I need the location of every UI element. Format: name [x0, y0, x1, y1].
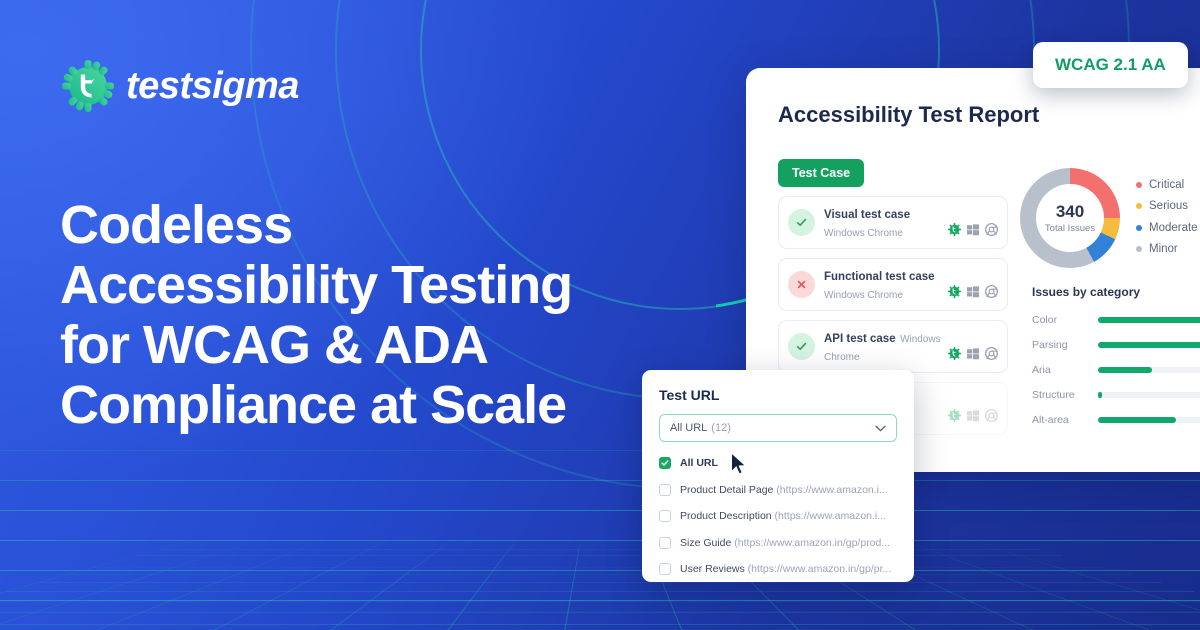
legend-item-minor: Minor — [1136, 239, 1198, 261]
checkbox-checked-icon[interactable] — [659, 457, 671, 469]
legend-dot-moderate — [1136, 225, 1142, 231]
status-pass-icon — [788, 333, 815, 360]
legend-dot-minor — [1136, 246, 1142, 252]
donut-center: 340 Total Issues — [1036, 184, 1104, 252]
list-item-label: User Reviews (https://www.amazon.in/gp/p… — [680, 563, 891, 575]
checkbox-icon[interactable] — [659, 537, 671, 549]
category-label: Color — [1032, 314, 1098, 326]
headline-line-4: Compliance at Scale — [60, 376, 700, 436]
legend-dot-critical — [1136, 182, 1142, 188]
list-item[interactable]: Product Detail Page (https://www.amazon.… — [659, 477, 897, 504]
status-fail-icon — [788, 271, 815, 298]
windows-icon — [967, 409, 979, 427]
list-item-url: (https://www.amazon.in/gp/prod... — [731, 537, 890, 549]
chevron-down-icon[interactable] — [875, 419, 886, 437]
mouse-cursor-icon — [730, 452, 749, 481]
list-item-label: Product Description (https://www.amazon.… — [680, 510, 886, 522]
testsigma-icon — [948, 409, 961, 427]
list-item[interactable]: All URL — [659, 450, 897, 477]
list-item-url: (https://www.amazon.i... — [772, 510, 886, 522]
table-row[interactable]: Visual test case Windows Chrome — [778, 196, 1008, 249]
donut-legend: Critical Serious Moderate Minor — [1136, 174, 1198, 260]
test-case-text: Visual test case Windows Chrome — [824, 205, 948, 241]
category-bar-fill — [1098, 392, 1102, 398]
category-bar-track — [1098, 417, 1200, 423]
legend-item-serious: Serious — [1136, 196, 1198, 218]
dropdown-selected-count: (12) — [711, 422, 731, 434]
chrome-icon — [985, 223, 998, 241]
platform-icons — [948, 285, 998, 303]
legend-label-minor: Minor — [1149, 243, 1178, 255]
table-row[interactable]: Functional test case Windows Chrome — [778, 258, 1008, 311]
legend-dot-serious — [1136, 203, 1142, 209]
category-row: Parsing — [1032, 333, 1200, 358]
category-bar-track — [1098, 317, 1200, 323]
category-label: Alt-area — [1032, 414, 1098, 426]
list-item[interactable]: Size Guide (https://www.amazon.in/gp/pro… — [659, 530, 897, 557]
test-case-tab[interactable]: Test Case — [778, 159, 864, 187]
list-item[interactable]: Product Description (https://www.amazon.… — [659, 503, 897, 530]
list-item-label: Size Guide (https://www.amazon.in/gp/pro… — [680, 537, 890, 549]
list-item[interactable]: User Reviews (https://www.amazon.in/gp/p… — [659, 556, 897, 583]
checkbox-icon[interactable] — [659, 484, 671, 496]
dropdown-selected-value: All URL — [670, 422, 707, 434]
platform-icons — [948, 409, 998, 427]
brand-logo[interactable]: testsigma — [62, 60, 299, 112]
total-issues-label: Total Issues — [1045, 223, 1095, 234]
test-url-options-list: All URLProduct Detail Page (https://www.… — [659, 450, 897, 583]
test-case-name: Visual test case — [824, 209, 910, 221]
category-bar-fill — [1098, 342, 1200, 348]
test-case-name: API test case — [824, 333, 896, 345]
category-row: Alt-area — [1032, 407, 1200, 432]
category-bar-fill — [1098, 317, 1200, 323]
status-pass-icon — [788, 209, 815, 236]
platform-icons — [948, 347, 998, 365]
category-bar-track — [1098, 342, 1200, 348]
headline-line-2: Accessibility Testing — [60, 256, 700, 316]
issues-donut-chart: 340 Total Issues — [1020, 168, 1120, 268]
page-title: Codeless Accessibility Testing for WCAG … — [60, 196, 700, 436]
list-item-label: All URL — [680, 457, 718, 469]
issues-by-category-title: Issues by category — [1032, 285, 1140, 299]
checkbox-icon[interactable] — [659, 510, 671, 522]
testsigma-gear-logo-icon — [62, 60, 114, 112]
category-label: Parsing — [1032, 339, 1098, 351]
headline-line-1: Codeless — [60, 196, 700, 256]
category-label: Aria — [1032, 364, 1098, 376]
checkbox-icon[interactable] — [659, 563, 671, 575]
chrome-icon — [985, 347, 998, 365]
chrome-icon — [985, 285, 998, 303]
list-item-url: (https://www.amazon.i... — [773, 484, 887, 496]
list-item-label: Product Detail Page (https://www.amazon.… — [680, 484, 888, 496]
report-title: Accessibility Test Report — [778, 102, 1039, 128]
list-item-url: (https://www.amazon.in/gp/pr... — [745, 563, 891, 575]
category-row: Color — [1032, 308, 1200, 333]
legend-label-serious: Serious — [1149, 200, 1188, 212]
category-bar-track — [1098, 367, 1200, 373]
test-url-panel: Test URL All URL (12) All URLProduct Det… — [642, 370, 914, 582]
testsigma-icon — [948, 285, 961, 303]
chrome-icon — [985, 409, 998, 427]
windows-icon — [967, 347, 979, 365]
legend-label-critical: Critical — [1149, 179, 1184, 191]
test-url-dropdown[interactable]: All URL (12) — [659, 414, 897, 442]
legend-item-critical: Critical — [1136, 174, 1198, 196]
test-case-name: Functional test case — [824, 271, 935, 283]
table-row[interactable]: API test case Windows Chrome — [778, 320, 1008, 373]
category-bar-fill — [1098, 417, 1176, 423]
legend-item-moderate: Moderate — [1136, 217, 1198, 239]
test-case-text: API test case Windows Chrome — [824, 329, 948, 365]
platform-icons — [948, 223, 998, 241]
brand-name: testsigma — [126, 65, 299, 108]
category-label: Structure — [1032, 389, 1098, 401]
category-bar-track — [1098, 392, 1200, 398]
category-row: Structure — [1032, 382, 1200, 407]
windows-icon — [967, 223, 979, 241]
wcag-compliance-badge: WCAG 2.1 AA — [1033, 42, 1188, 88]
test-case-platform: Windows Chrome — [824, 228, 903, 239]
testsigma-icon — [948, 347, 961, 365]
category-row: Aria — [1032, 358, 1200, 383]
testsigma-icon — [948, 223, 961, 241]
test-case-platform: Windows Chrome — [824, 290, 903, 301]
windows-icon — [967, 285, 979, 303]
legend-label-moderate: Moderate — [1149, 222, 1198, 234]
test-url-title: Test URL — [659, 387, 897, 403]
test-case-text: Functional test case Windows Chrome — [824, 267, 948, 303]
issues-by-category-chart: ColorParsingAriaStructureAlt-area — [1032, 308, 1200, 432]
total-issues-value: 340 — [1056, 203, 1084, 220]
headline-line-3: for WCAG & ADA — [60, 316, 700, 376]
category-bar-fill — [1098, 367, 1152, 373]
